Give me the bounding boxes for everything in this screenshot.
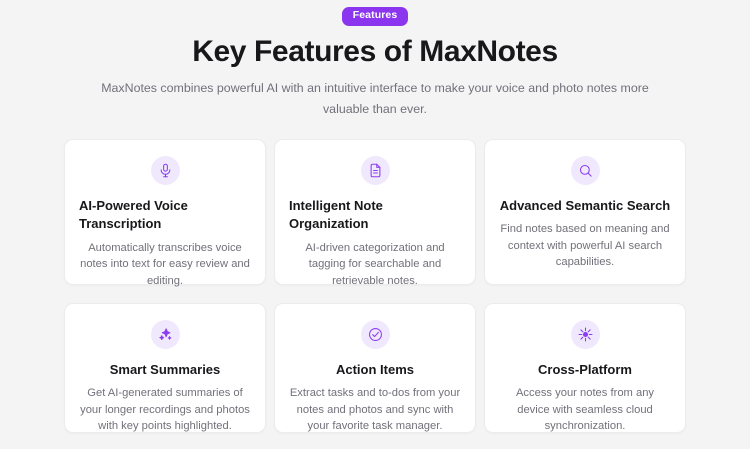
feature-card-description: Automatically transcribes voice notes in… [79, 240, 251, 290]
asterisk-burst-icon [571, 320, 600, 349]
document-text-icon [361, 156, 390, 185]
feature-card[interactable]: Advanced Semantic Search Find notes base… [484, 139, 686, 285]
feature-card[interactable]: Cross-Platform Access your notes from an… [484, 303, 686, 433]
feature-card[interactable]: Action Items Extract tasks and to-dos fr… [274, 303, 476, 433]
feature-cards-grid: AI-Powered Voice Transcription Automatic… [64, 139, 686, 433]
feature-card-description: Get AI-generated summaries of your longe… [79, 385, 251, 435]
feature-card-description: Access your notes from any device with s… [499, 385, 671, 435]
sparkles-icon [151, 320, 180, 349]
feature-card-description: AI-driven categorization and tagging for… [289, 240, 461, 290]
feature-card[interactable]: AI-Powered Voice Transcription Automatic… [64, 139, 266, 285]
feature-card[interactable]: Smart Summaries Get AI-generated summari… [64, 303, 266, 433]
search-icon [571, 156, 600, 185]
feature-card-title: Intelligent Note Organization [289, 197, 461, 234]
feature-card[interactable]: Intelligent Note Organization AI-driven … [274, 139, 476, 285]
feature-card-title: Advanced Semantic Search [499, 197, 671, 215]
feature-card-title: Smart Summaries [79, 361, 251, 379]
feature-card-description: Extract tasks and to-dos from your notes… [289, 385, 461, 435]
feature-card-title: AI-Powered Voice Transcription [79, 197, 251, 234]
check-circle-icon [361, 320, 390, 349]
feature-card-title: Cross-Platform [499, 361, 671, 379]
features-badge: Features [342, 7, 409, 26]
microphone-icon [151, 156, 180, 185]
section-header: Features Key Features of MaxNotes MaxNot… [0, 0, 750, 121]
page-title: Key Features of MaxNotes [192, 35, 558, 70]
feature-card-title: Action Items [289, 361, 461, 379]
page-subtitle: MaxNotes combines powerful AI with an in… [95, 78, 655, 121]
feature-card-description: Find notes based on meaning and context … [499, 221, 671, 271]
features-section: Features Key Features of MaxNotes MaxNot… [0, 0, 750, 449]
